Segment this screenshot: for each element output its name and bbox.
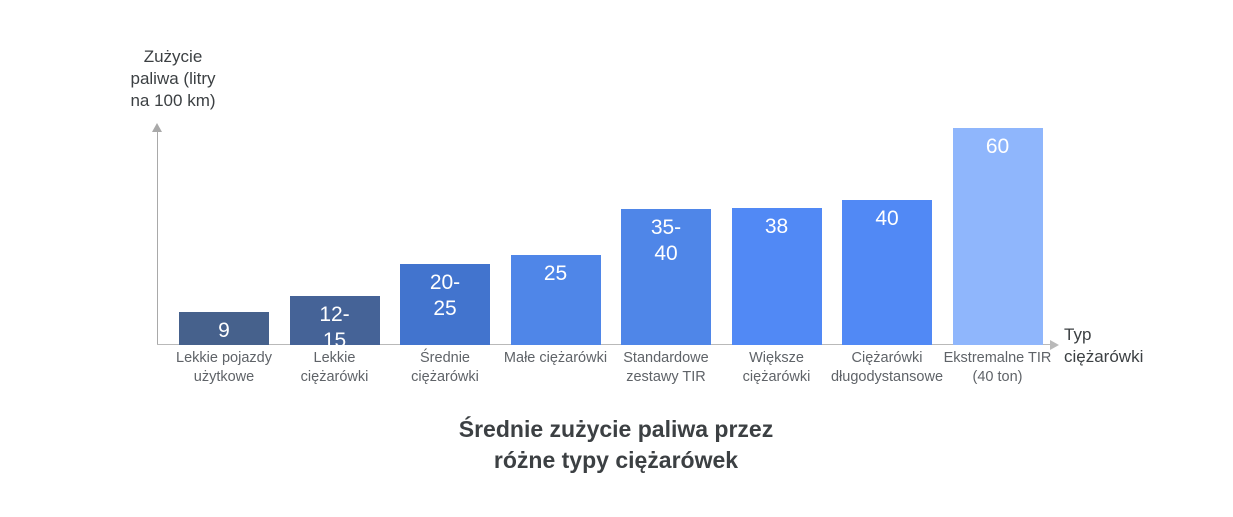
- category-label: Ciężarówki długodystansowe: [824, 349, 950, 387]
- category-label: Lekkie ciężarówki: [272, 349, 398, 387]
- category-label: Lekkie pojazdy użytkowe: [161, 349, 287, 387]
- category-label: Większe ciężarówki: [714, 349, 840, 387]
- chart-canvas: Zużycie paliwa (litry na 100 km) Typ cię…: [0, 0, 1233, 517]
- bar[interactable]: 20- 25: [400, 264, 490, 345]
- category-label: Standardowe zestawy TIR: [603, 349, 729, 387]
- x-axis-title: Typ ciężarówki: [1064, 324, 1214, 368]
- bar[interactable]: 38: [732, 208, 822, 345]
- bar-value-label: 25: [511, 261, 601, 287]
- bar[interactable]: 12- 15: [290, 296, 380, 345]
- bar[interactable]: 9: [179, 312, 269, 345]
- bar-value-label: 38: [732, 214, 822, 240]
- chart-title: Średnie zużycie paliwa przez różne typy …: [316, 414, 916, 476]
- bars-container: 912- 1520- 252535- 40384060: [157, 110, 1054, 345]
- bar[interactable]: 25: [511, 255, 601, 345]
- bar-value-label: 60: [953, 134, 1043, 160]
- category-label: Małe ciężarówki: [493, 349, 619, 368]
- bar[interactable]: 60: [953, 128, 1043, 345]
- bar-value-label: 9: [179, 318, 269, 344]
- y-axis-title: Zużycie paliwa (litry na 100 km): [113, 46, 233, 112]
- bar[interactable]: 35- 40: [621, 209, 711, 345]
- bar[interactable]: 40: [842, 200, 932, 345]
- category-label: Średnie ciężarówki: [382, 349, 508, 387]
- bar-value-label: 20- 25: [400, 270, 490, 322]
- bar-value-label: 12- 15: [290, 302, 380, 345]
- bar-value-label: 40: [842, 206, 932, 232]
- category-label: Ekstremalne TIR (40 ton): [935, 349, 1061, 387]
- bar-value-label: 35- 40: [621, 215, 711, 267]
